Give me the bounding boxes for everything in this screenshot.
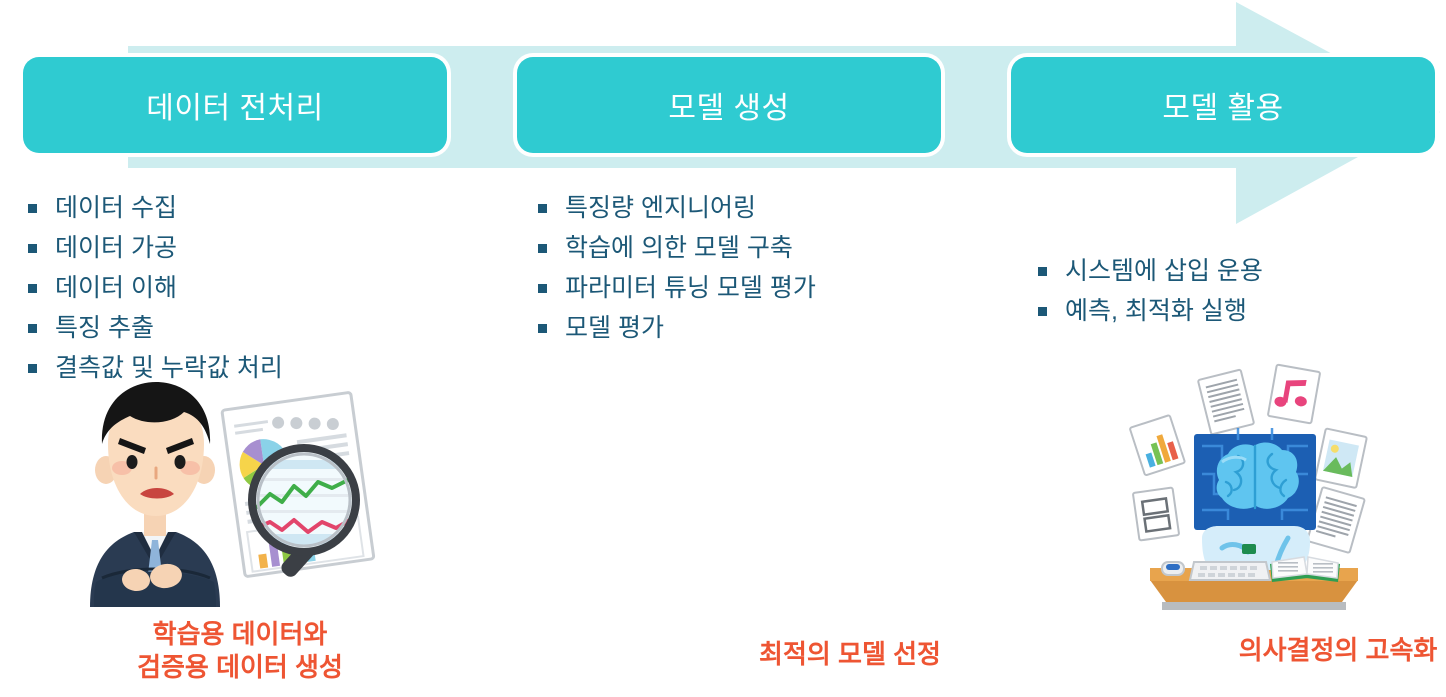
bullet-list: 데이터 수집 데이터 가공 데이터 이해 특징 추출 결측값 및 누락값 처리 <box>28 192 283 392</box>
phase-caption: 학습용 데이터와 검증용 데이터 생성 <box>0 618 490 685</box>
bullet-list: 시스템에 삽입 운용 예측, 최적화 실행 <box>1038 255 1263 335</box>
list-item: 특징량 엔지니어링 <box>538 192 816 225</box>
thinking-businessman-icon <box>90 382 220 607</box>
square-bullet-icon <box>28 284 37 293</box>
list-item: 데이터 수집 <box>28 192 283 225</box>
list-item-label: 모델 평가 <box>565 312 664 345</box>
list-item: 파라미터 튜닝 모델 평가 <box>538 272 816 305</box>
square-bullet-icon <box>538 324 547 333</box>
list-item: 시스템에 삽입 운용 <box>1038 255 1263 288</box>
list-item-label: 결측값 및 누락값 처리 <box>55 352 283 385</box>
phase-column-data-preprocessing: 데이터 수집 데이터 가공 데이터 이해 특징 추출 결측값 및 누락값 처리 <box>0 0 500 697</box>
square-bullet-icon <box>28 204 37 213</box>
list-item-label: 특징 추출 <box>55 312 154 345</box>
square-bullet-icon <box>538 284 547 293</box>
list-item: 데이터 이해 <box>28 272 283 305</box>
phase-caption: 의사결정의 고속화 <box>1120 634 1446 667</box>
list-item: 특징 추출 <box>28 312 283 345</box>
list-item: 학습에 의한 모델 구축 <box>538 232 816 265</box>
square-bullet-icon <box>538 244 547 253</box>
list-item-label: 특징량 엔지니어링 <box>565 192 756 225</box>
list-item-label: 데이터 수집 <box>55 192 177 225</box>
square-bullet-icon <box>28 364 37 373</box>
list-item-label: 시스템에 삽입 운용 <box>1065 255 1263 288</box>
list-item-label: 예측, 최적화 실행 <box>1065 295 1247 328</box>
square-bullet-icon <box>538 204 547 213</box>
bullet-list: 특징량 엔지니어링 학습에 의한 모델 구축 파라미터 튜닝 모델 평가 모델 … <box>538 192 816 352</box>
list-item: 데이터 가공 <box>28 232 283 265</box>
list-item: 결측값 및 누락값 처리 <box>28 352 283 385</box>
square-bullet-icon <box>1038 307 1047 316</box>
phase-column-model-utilization: 시스템에 삽입 운용 예측, 최적화 실행 <box>1010 0 1446 697</box>
slide-canvas: 데이터 전처리 모델 생성 모델 활용 데이터 수집 데이터 가공 데이터 이해… <box>0 0 1446 697</box>
analyst-with-report-illustration <box>72 382 392 607</box>
list-item-label: 데이터 이해 <box>55 272 177 305</box>
list-item: 예측, 최적화 실행 <box>1038 295 1263 328</box>
list-item-label: 데이터 가공 <box>55 232 177 265</box>
square-bullet-icon <box>28 244 37 253</box>
list-item-label: 파라미터 튜닝 모델 평가 <box>565 272 816 305</box>
list-item-label: 학습에 의한 모델 구축 <box>565 232 793 265</box>
list-item: 모델 평가 <box>538 312 816 345</box>
square-bullet-icon <box>1038 267 1047 276</box>
square-bullet-icon <box>28 324 37 333</box>
phase-column-model-creation: 특징량 엔지니어링 학습에 의한 모델 구축 파라미터 튜닝 모델 평가 모델 … <box>510 0 1010 697</box>
